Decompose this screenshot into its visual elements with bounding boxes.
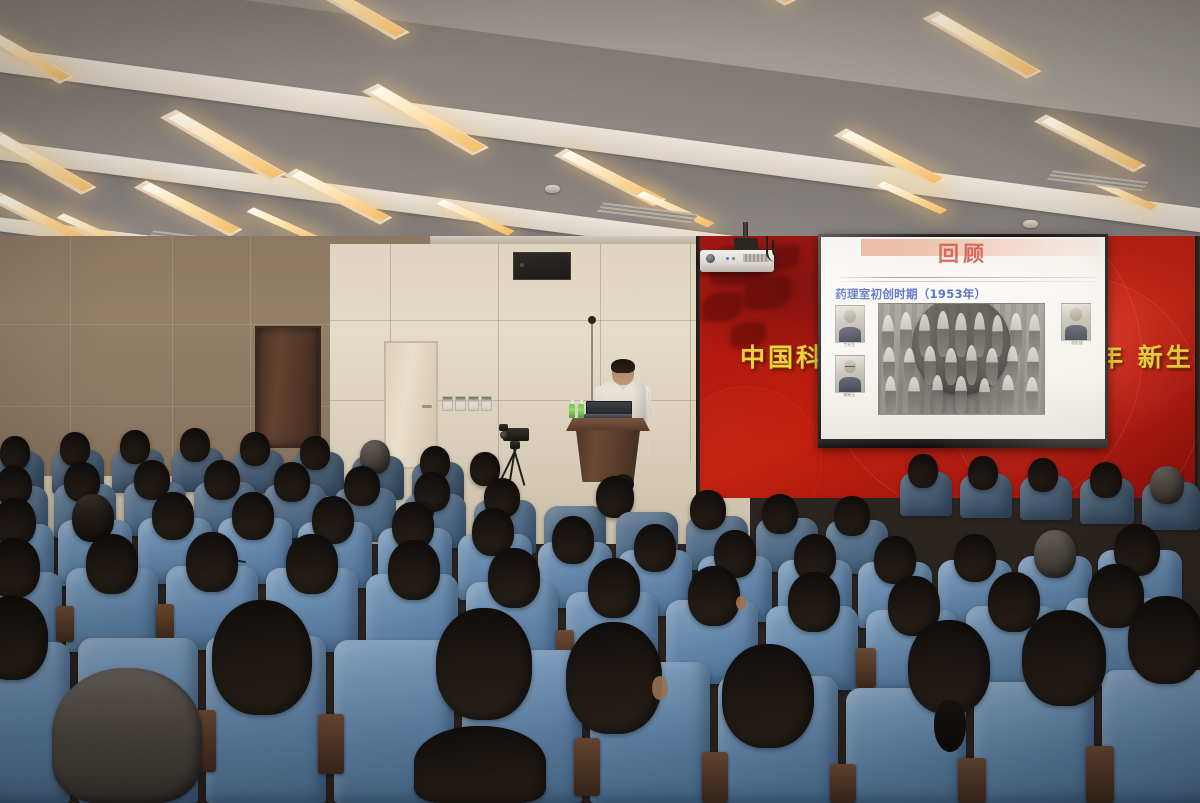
projector-lens [706,254,715,263]
slide-portrait-1 [835,305,865,343]
microphone-head [588,316,596,324]
water-bottle[interactable] [569,404,575,418]
smoke-detector [545,185,560,193]
video-camera-viewfinder [499,424,508,431]
projector-vent [743,254,769,262]
smoke-detector [1023,220,1038,228]
slide-portrait-1-caption: 丁光生 [835,342,863,348]
door-handle[interactable] [422,405,432,408]
light-switch-panel[interactable] [442,396,492,411]
slide-group-photo [878,303,1045,415]
projector-cable [772,240,788,260]
banner-text-right: 年 新生 [1098,338,1194,374]
slide-portrait-3-caption: 池志强 [1063,340,1091,346]
lecture-hall-photo: 中国科 年 新生 回顾 药理室初创时期（1953年） 丁光生 宋振玉 [0,0,1200,803]
dark-wood-door[interactable] [255,326,321,448]
podium [566,418,650,482]
screen-bottom-bar [818,439,1108,448]
screen-frame: 回顾 药理室初创时期（1953年） 丁光生 宋振玉 池志强 [818,234,1108,448]
podium-body [576,430,640,482]
slide-surface: 回顾 药理室初创时期（1953年） 丁光生 宋振玉 池志强 [821,237,1105,439]
slide-portrait-2-caption: 宋振玉 [835,392,863,398]
podium-top [566,418,650,431]
camera-lens [500,431,508,439]
ceiling-projector [700,250,774,272]
wall-speaker [513,252,571,280]
slide-portrait-2 [835,355,865,393]
water-bottle[interactable] [578,404,584,418]
projection-screen: 回顾 药理室初创时期（1953年） 丁光生 宋振玉 池志强 [818,234,1108,448]
presenter-cable [648,392,667,466]
slide-title: 回顾 [821,238,1105,268]
slide-subtitle: 药理室初创时期（1953年） [835,286,986,302]
banner-text-left: 中国科 [740,338,824,374]
slide-portrait-3 [1061,303,1091,341]
ceiling [0,0,1200,258]
